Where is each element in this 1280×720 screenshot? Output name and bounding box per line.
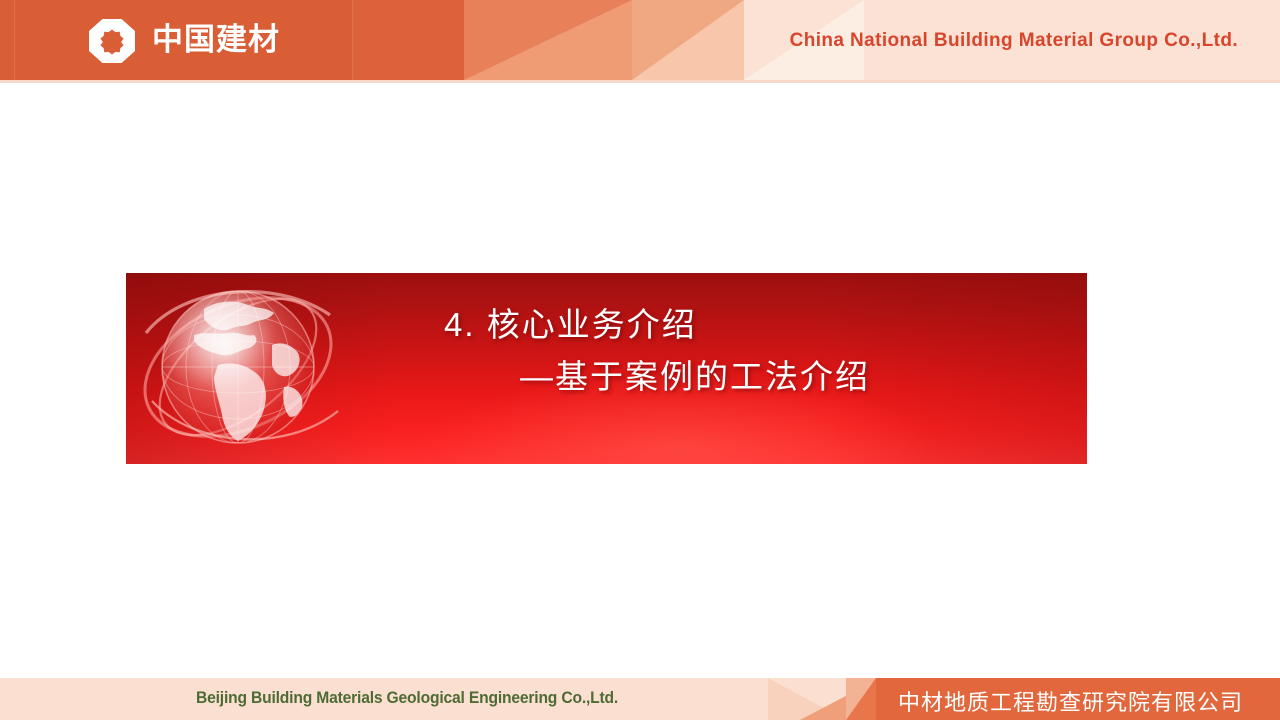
banner-title-line-1: 4. 核心业务介绍 [444, 299, 1064, 351]
footer-company-name-cn: 中材地质工程勘查研究院有限公司 [898, 685, 1243, 717]
banner-title: 4. 核心业务介绍 —基于案例的工法介绍 [444, 299, 1064, 403]
header-seam [14, 0, 15, 80]
header-logo-text: 中国建材 [152, 18, 280, 62]
footer-diagonal-3 [846, 678, 876, 720]
header-company-name-en: China National Building Material Group C… [790, 30, 1238, 52]
header-band-2 [352, 0, 464, 80]
banner-title-line-2: —基于案例的工法介绍 [444, 351, 1064, 403]
slide-root: 中国建材 China National Building Material Gr… [0, 0, 1280, 720]
header-diagonal-4 [632, 0, 744, 80]
header-diagonal-3 [464, 0, 632, 80]
slide-header: 中国建材 China National Building Material Gr… [0, 0, 1280, 80]
footer-company-name-en: Beijing Building Materials Geological En… [196, 688, 618, 708]
slide-footer: Beijing Building Materials Geological En… [0, 678, 1280, 720]
cnbm-octagon-logo-icon [88, 18, 136, 64]
header-underline [0, 80, 1280, 83]
globe-icon [134, 273, 349, 464]
header-seam [352, 0, 353, 80]
title-banner: 4. 核心业务介绍 —基于案例的工法介绍 [126, 273, 1087, 464]
